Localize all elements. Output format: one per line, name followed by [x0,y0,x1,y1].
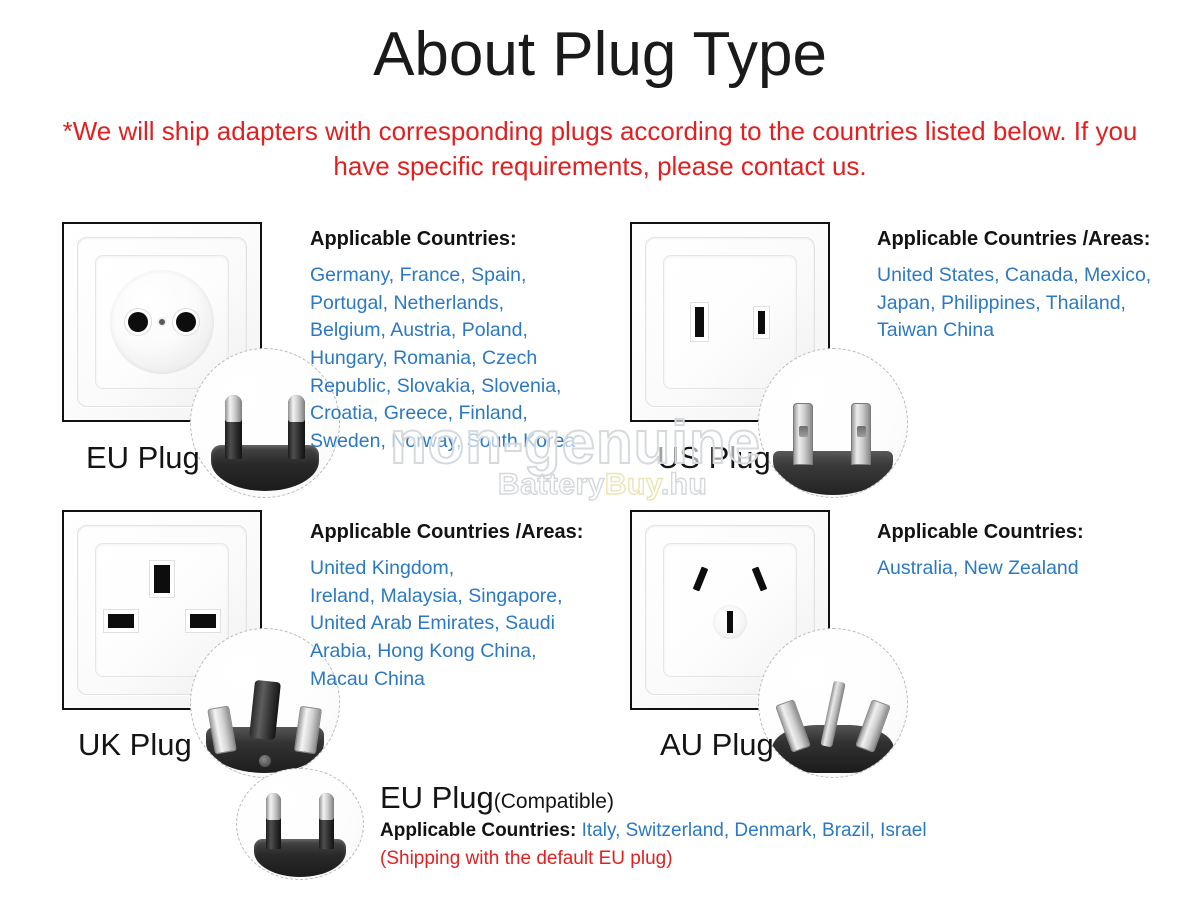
countries-line: Japan, Philippines, Thailand, [877,290,1177,318]
countries-line: United Kingdom, [310,555,610,583]
compatible-countries-label: Applicable Countries: [380,820,576,841]
countries-heading: Applicable Countries /Areas: [877,228,1177,251]
countries-line: Belgium, Austria, Poland, [310,317,600,345]
us-socket-face [663,255,797,389]
countries-line: Portugal, Netherlands, [310,290,600,318]
compatible-title-suffix: (Compatible) [494,790,614,813]
countries-line: United Arab Emirates, Saudi [310,610,610,638]
shipping-note: *We will ship adapters with correspondin… [60,114,1140,183]
compatible-title: EU Plug(Compatible) [380,780,614,816]
plug-label-eu: EU Plug [86,440,200,476]
eu-socket-recess [110,270,214,374]
countries-line: Hungary, Romania, Czech [310,345,600,373]
uk-socket-slot-earth [154,565,170,593]
eu-plug-pin-right [288,395,305,459]
countries-line: United States, Canada, Mexico, [877,262,1177,290]
compatible-title-main: EU Plug [380,780,494,815]
countries-list: United States, Canada, Mexico, Japan, Ph… [877,262,1177,345]
countries-list: Germany, France, Spain, Portugal, Nether… [310,262,600,456]
countries-heading: Applicable Countries /Areas: [310,521,610,544]
us-socket-slot-left [695,307,704,337]
compatible-shipping-note: (Shipping with the default EU plug) [380,848,673,870]
countries-list: Australia, New Zealand [877,555,1177,583]
au-socket-slot-right [752,567,767,592]
countries-list: United Kingdom, Ireland, Malaysia, Singa… [310,555,610,693]
countries-line: Taiwan China [877,317,1177,345]
countries-line: Germany, France, Spain, [310,262,600,290]
eu-compatible-plug-icon [236,768,364,880]
compatible-countries: Applicable Countries: Italy, Switzerland… [380,820,927,842]
us-plug-body [773,451,893,495]
us-plug-blade-left [793,403,813,465]
plug-label-au: AU Plug [660,727,774,763]
eu-plug-pin-right [319,793,334,849]
plug-label-us: US Plug [657,440,771,476]
au-socket-slot-left [693,567,708,592]
au-socket-slot-earth [727,611,733,633]
countries-line: Ireland, Malaysia, Singapore, [310,583,610,611]
us-plug-icon [758,348,908,498]
eu-plug-pin-left [225,395,242,459]
watermark-sub-part2: Buy [605,468,661,501]
countries-heading: Applicable Countries: [310,228,600,251]
countries-eu: Applicable Countries: Germany, France, S… [310,228,600,456]
page-title: About Plug Type [0,22,1200,87]
uk-socket-slot-right [190,614,216,628]
countries-line: Croatia, Greece, Finland, [310,400,600,428]
uk-plug-screw [259,755,271,767]
countries-line: Macau China [310,666,610,694]
countries-line: Australia, New Zealand [877,555,1177,583]
au-socket-earth-pad [713,605,747,639]
countries-uk: Applicable Countries /Areas: United King… [310,521,610,693]
eu-socket-face [95,255,229,389]
us-plug-blade-right [851,403,871,465]
us-socket-slot-right [758,311,765,334]
countries-au: Applicable Countries: Australia, New Zea… [877,521,1177,583]
countries-heading: Applicable Countries: [877,521,1177,544]
plug-type-infographic: About Plug Type *We will ship adapters w… [0,0,1200,900]
eu-plug-pin-left [266,793,281,849]
countries-us: Applicable Countries /Areas: United Stat… [877,228,1177,345]
uk-socket-slot-left [108,614,134,628]
eu-socket-center-pin [159,319,165,325]
eu-socket-hole-right [176,312,196,332]
watermark-sub-part1: Battery [498,468,605,501]
countries-line: Sweden, Norway, South Korea [310,428,600,456]
eu-socket-hole-left [128,312,148,332]
au-plug-icon [758,628,908,778]
countries-line: Arabia, Hong Kong China, [310,638,610,666]
countries-line: Republic, Slovakia, Slovenia, [310,373,600,401]
compatible-countries-value: Italy, Switzerland, Denmark, Brazil, Isr… [582,820,927,841]
plug-label-uk: UK Plug [78,727,192,763]
